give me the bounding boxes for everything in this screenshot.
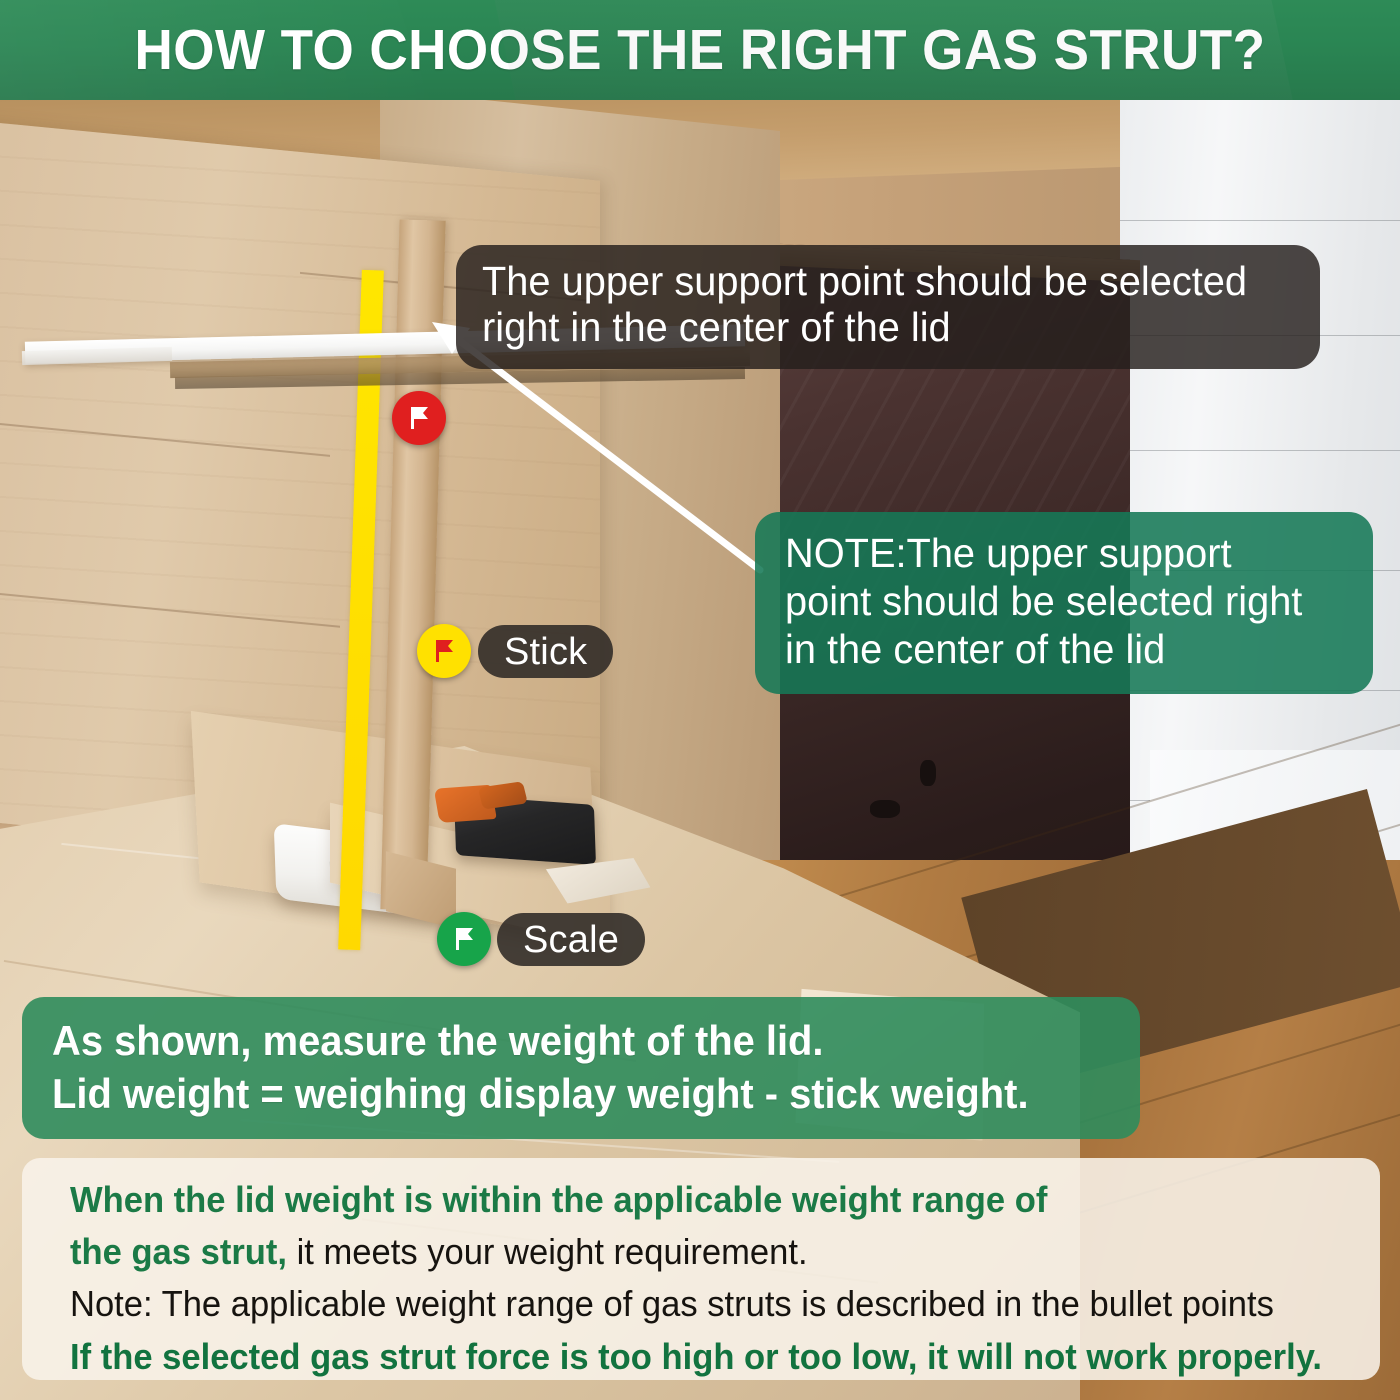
stick-flag-icon[interactable] — [417, 624, 471, 678]
notes-line-3-black: Note: The applicable weight range of gas… — [70, 1283, 1274, 1324]
scale-label: Scale — [523, 921, 619, 959]
page-title: HOW TO CHOOSE THE RIGHT GAS STRUT? — [49, 17, 1351, 83]
notes-line-2-black: it meets your weight requirement. — [287, 1231, 808, 1272]
scale-label-pill[interactable]: Scale — [497, 913, 645, 966]
callout-upper-support: The upper support point should be select… — [456, 245, 1320, 369]
callout-note-line-1: NOTE:The upper support — [785, 530, 1330, 578]
doorway-object-2 — [920, 760, 936, 786]
summary-line-1: As shown, measure the weight of the lid. — [52, 1015, 1086, 1068]
notes-line-4: If the selected gas strut force is too h… — [70, 1331, 1328, 1383]
notes-line-4-green: If the selected gas strut force is too h… — [70, 1336, 1322, 1377]
callout-note-line-3: in the center of the lid — [785, 626, 1330, 674]
stick-label-pill[interactable]: Stick — [478, 625, 613, 678]
summary-line-2: Lid weight = weighing display weight - s… — [52, 1068, 1086, 1121]
doorway-object-1 — [870, 800, 900, 818]
summary-box: As shown, measure the weight of the lid.… — [22, 997, 1140, 1139]
callout-note-line-2: point should be selected right — [785, 578, 1330, 626]
cordless-drill — [454, 795, 596, 865]
notes-line-2: the gas strut, it meets your weight requ… — [70, 1226, 1328, 1278]
notes-line-2-green: the gas strut, — [70, 1231, 287, 1272]
callout-upper-support-line-1: The upper support point should be select… — [482, 259, 1270, 305]
notes-line-3: Note: The applicable weight range of gas… — [70, 1278, 1328, 1330]
stick-label: Stick — [504, 633, 587, 671]
callout-note: NOTE:The upper support point should be s… — [755, 512, 1373, 694]
callout-upper-support-line-2: right in the center of the lid — [482, 305, 1270, 351]
notes-line-1: When the lid weight is within the applic… — [70, 1174, 1328, 1226]
upper-support-point-flag-icon[interactable] — [392, 391, 446, 445]
infographic-stage: Stick Scale The upper support point shou… — [0, 0, 1400, 1400]
notes-line-1-green: When the lid weight is within the applic… — [70, 1179, 1047, 1220]
scale-flag-icon[interactable] — [437, 912, 491, 966]
header-banner: HOW TO CHOOSE THE RIGHT GAS STRUT? — [0, 0, 1400, 100]
notes-box: When the lid weight is within the applic… — [22, 1158, 1380, 1380]
